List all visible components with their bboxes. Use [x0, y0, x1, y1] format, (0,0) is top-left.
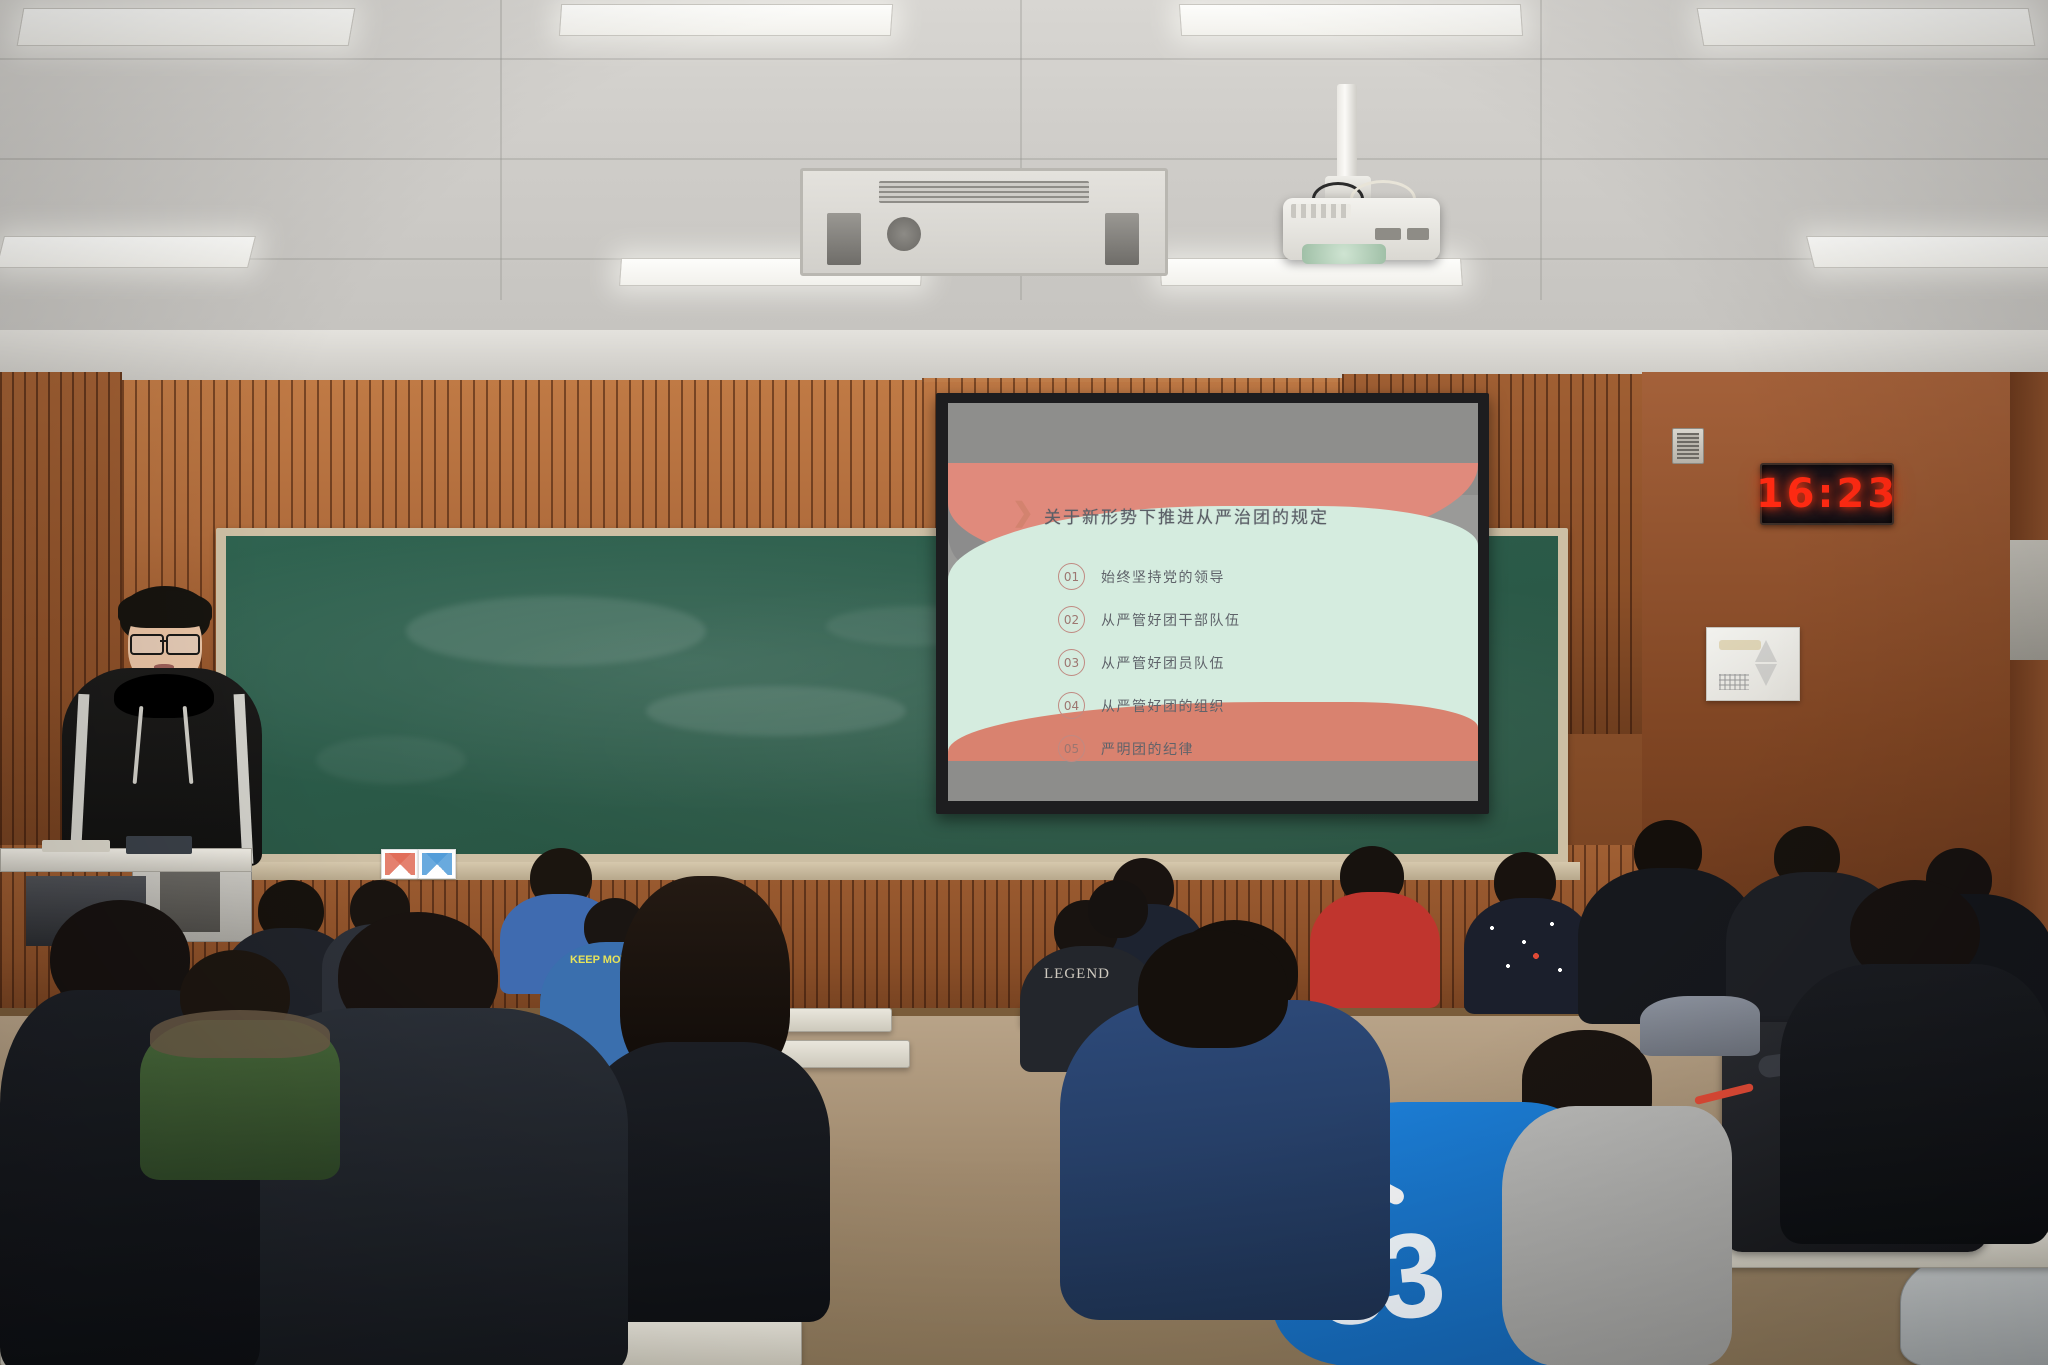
triangle-icon: [1755, 664, 1777, 686]
presenter-hair-front: [118, 590, 212, 628]
hood: [114, 674, 214, 718]
ceiling-light: [17, 8, 356, 46]
ceiling-seam: [0, 58, 2048, 60]
ceiling-light: [1806, 236, 2048, 268]
ceiling-light: [0, 236, 256, 268]
ceiling-light: [1697, 8, 2036, 46]
slide-item-number: 01: [1058, 563, 1085, 590]
ceiling-light: [1179, 4, 1523, 36]
student-star-print-jacket: [1464, 852, 1594, 1012]
slide-item-text: 从严管好团员队伍: [1101, 653, 1225, 673]
ceiling-seam: [1540, 0, 1542, 300]
ac-vent: [1105, 213, 1139, 265]
standing-presenter[interactable]: [62, 586, 262, 866]
wall-speaker: [1672, 428, 1704, 464]
glasses-bridge: [160, 640, 166, 642]
chevron-icon: ❯: [1012, 499, 1034, 525]
student: [1780, 880, 2048, 1240]
slide-list-item: 03 从严管好团员队伍: [1058, 649, 1225, 676]
classroom-photo: ❯ 关于新形势下推进从严治团的规定 01 始终坚持党的领导 02 从严管好团干部…: [0, 0, 2048, 1365]
slide-list-item: 04 从严管好团的组织: [1058, 692, 1225, 719]
student: [140, 950, 340, 1170]
clock-time: 16:23: [1756, 471, 1898, 517]
slide-item-text: 始终坚持党的领导: [1101, 567, 1225, 587]
lectern-control-panel[interactable]: [126, 836, 192, 854]
ceiling-light: [559, 4, 893, 36]
wall-clock: 16:23: [1760, 463, 1894, 525]
projector-lens: [1302, 244, 1386, 264]
dark-jacket: [1780, 964, 2048, 1244]
slide-item-text: 从严管好团干部队伍: [1101, 610, 1241, 630]
ledge-card-red[interactable]: [381, 849, 419, 879]
slide-item-number: 05: [1058, 735, 1085, 762]
ac-sensor: [887, 217, 921, 251]
star-print: [1478, 912, 1578, 996]
glasses-right-lens: [166, 634, 200, 655]
grey-hood: [1502, 1106, 1732, 1365]
glasses-left-lens: [130, 634, 164, 655]
sign-text-line: [1719, 640, 1761, 650]
slide-list-item: 01 始终坚持党的领导: [1058, 563, 1225, 590]
ledge-card-blue[interactable]: [418, 849, 456, 879]
student: [1098, 930, 1398, 1260]
ceiling-air-conditioner: [800, 168, 1168, 276]
ceiling-seam: [0, 158, 2048, 160]
slide-item-number: 04: [1058, 692, 1085, 719]
projection-screen[interactable]: ❯ 关于新形势下推进从严治团的规定 01 始终坚持党的领导 02 从严管好团干部…: [948, 403, 1478, 801]
slide-item-text: 严明团的纪律: [1101, 739, 1194, 759]
slide-item-text: 从严管好团的组织: [1101, 696, 1225, 716]
wall-sign: [1706, 627, 1800, 701]
ceiling-seam: [500, 0, 502, 300]
lectern-paper: [42, 840, 110, 852]
student-bag: [1640, 996, 1760, 1056]
slide-heading: 关于新形势下推进从严治团的规定: [1044, 503, 1329, 528]
slide-item-number: 03: [1058, 649, 1085, 676]
grid-icon: [1719, 674, 1749, 690]
ac-vent: [827, 213, 861, 265]
slide-item-number: 02: [1058, 606, 1085, 633]
fur-hood: [150, 1010, 330, 1058]
slide-list-item: 02 从严管好团干部队伍: [1058, 606, 1241, 633]
wall-edge-panel: [2010, 540, 2048, 660]
slide-list-item: 05 严明团的纪律: [1058, 735, 1194, 762]
